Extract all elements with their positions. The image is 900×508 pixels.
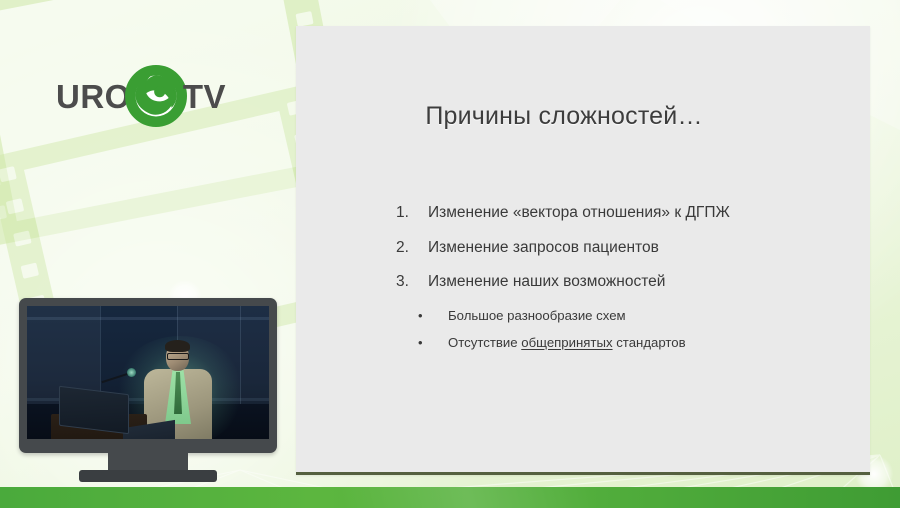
logo-text-tv: TV: [183, 80, 226, 113]
video-monitor[interactable]: [19, 298, 277, 483]
list-item: 3. Изменение наших возможностей: [396, 273, 850, 292]
slide-presentation-frame: URO TV Причины сложностей… 1. Изменение …: [0, 0, 900, 508]
list-item-label: Изменение запросов пациентов: [428, 239, 659, 256]
sub-item-label-after: стандартов: [613, 335, 686, 350]
uro-tv-emblem-icon: [125, 65, 187, 127]
list-item: 1. Изменение «вектора отношения» к ДГПЖ: [396, 204, 850, 223]
monitor-bezel: [19, 298, 277, 453]
sub-item-label: Большое разнообразие схем: [448, 308, 626, 323]
uro-tv-logo[interactable]: URO TV: [52, 58, 230, 134]
sub-item-label-underlined: общепринятых: [521, 335, 612, 350]
sub-bullet-list: • Большое разнообразие схем • Отсутствие…: [396, 308, 850, 351]
sub-item-label-before: Отсутствие: [448, 335, 521, 350]
footer-bar-shine: [0, 487, 900, 508]
list-item-label: Изменение «вектора отношения» к ДГПЖ: [428, 204, 730, 221]
slide-title: Причины сложностей…: [296, 102, 870, 131]
list-item-number: 3.: [396, 273, 420, 292]
numbered-list: 1. Изменение «вектора отношения» к ДГПЖ …: [396, 204, 850, 292]
list-item: • Большое разнообразие схем: [396, 308, 850, 324]
slide-panel: Причины сложностей… 1. Изменение «вектор…: [296, 26, 870, 475]
bullet-icon: •: [418, 335, 423, 351]
slide-body: 1. Изменение «вектора отношения» к ДГПЖ …: [396, 204, 850, 361]
monitor-stand-neck: [108, 453, 188, 470]
list-item-label: Изменение наших возможностей: [428, 273, 665, 290]
video-speaker-glasses: [167, 353, 189, 360]
list-item-number: 2.: [396, 239, 420, 258]
footer-bar: [0, 487, 900, 508]
bullet-icon: •: [418, 308, 423, 324]
monitor-stand-base: [79, 470, 217, 482]
video-speaker-hair: [165, 340, 190, 352]
list-item-number: 1.: [396, 204, 420, 223]
video-screen[interactable]: [27, 306, 269, 439]
video-wall-rail: [27, 317, 269, 320]
list-item: • Отсутствие общепринятых стандартов: [396, 335, 850, 351]
logo-text-uro: URO: [56, 80, 131, 113]
video-microphone-head: [127, 368, 136, 377]
list-item: 2. Изменение запросов пациентов: [396, 239, 850, 258]
video-laptop: [59, 386, 129, 435]
